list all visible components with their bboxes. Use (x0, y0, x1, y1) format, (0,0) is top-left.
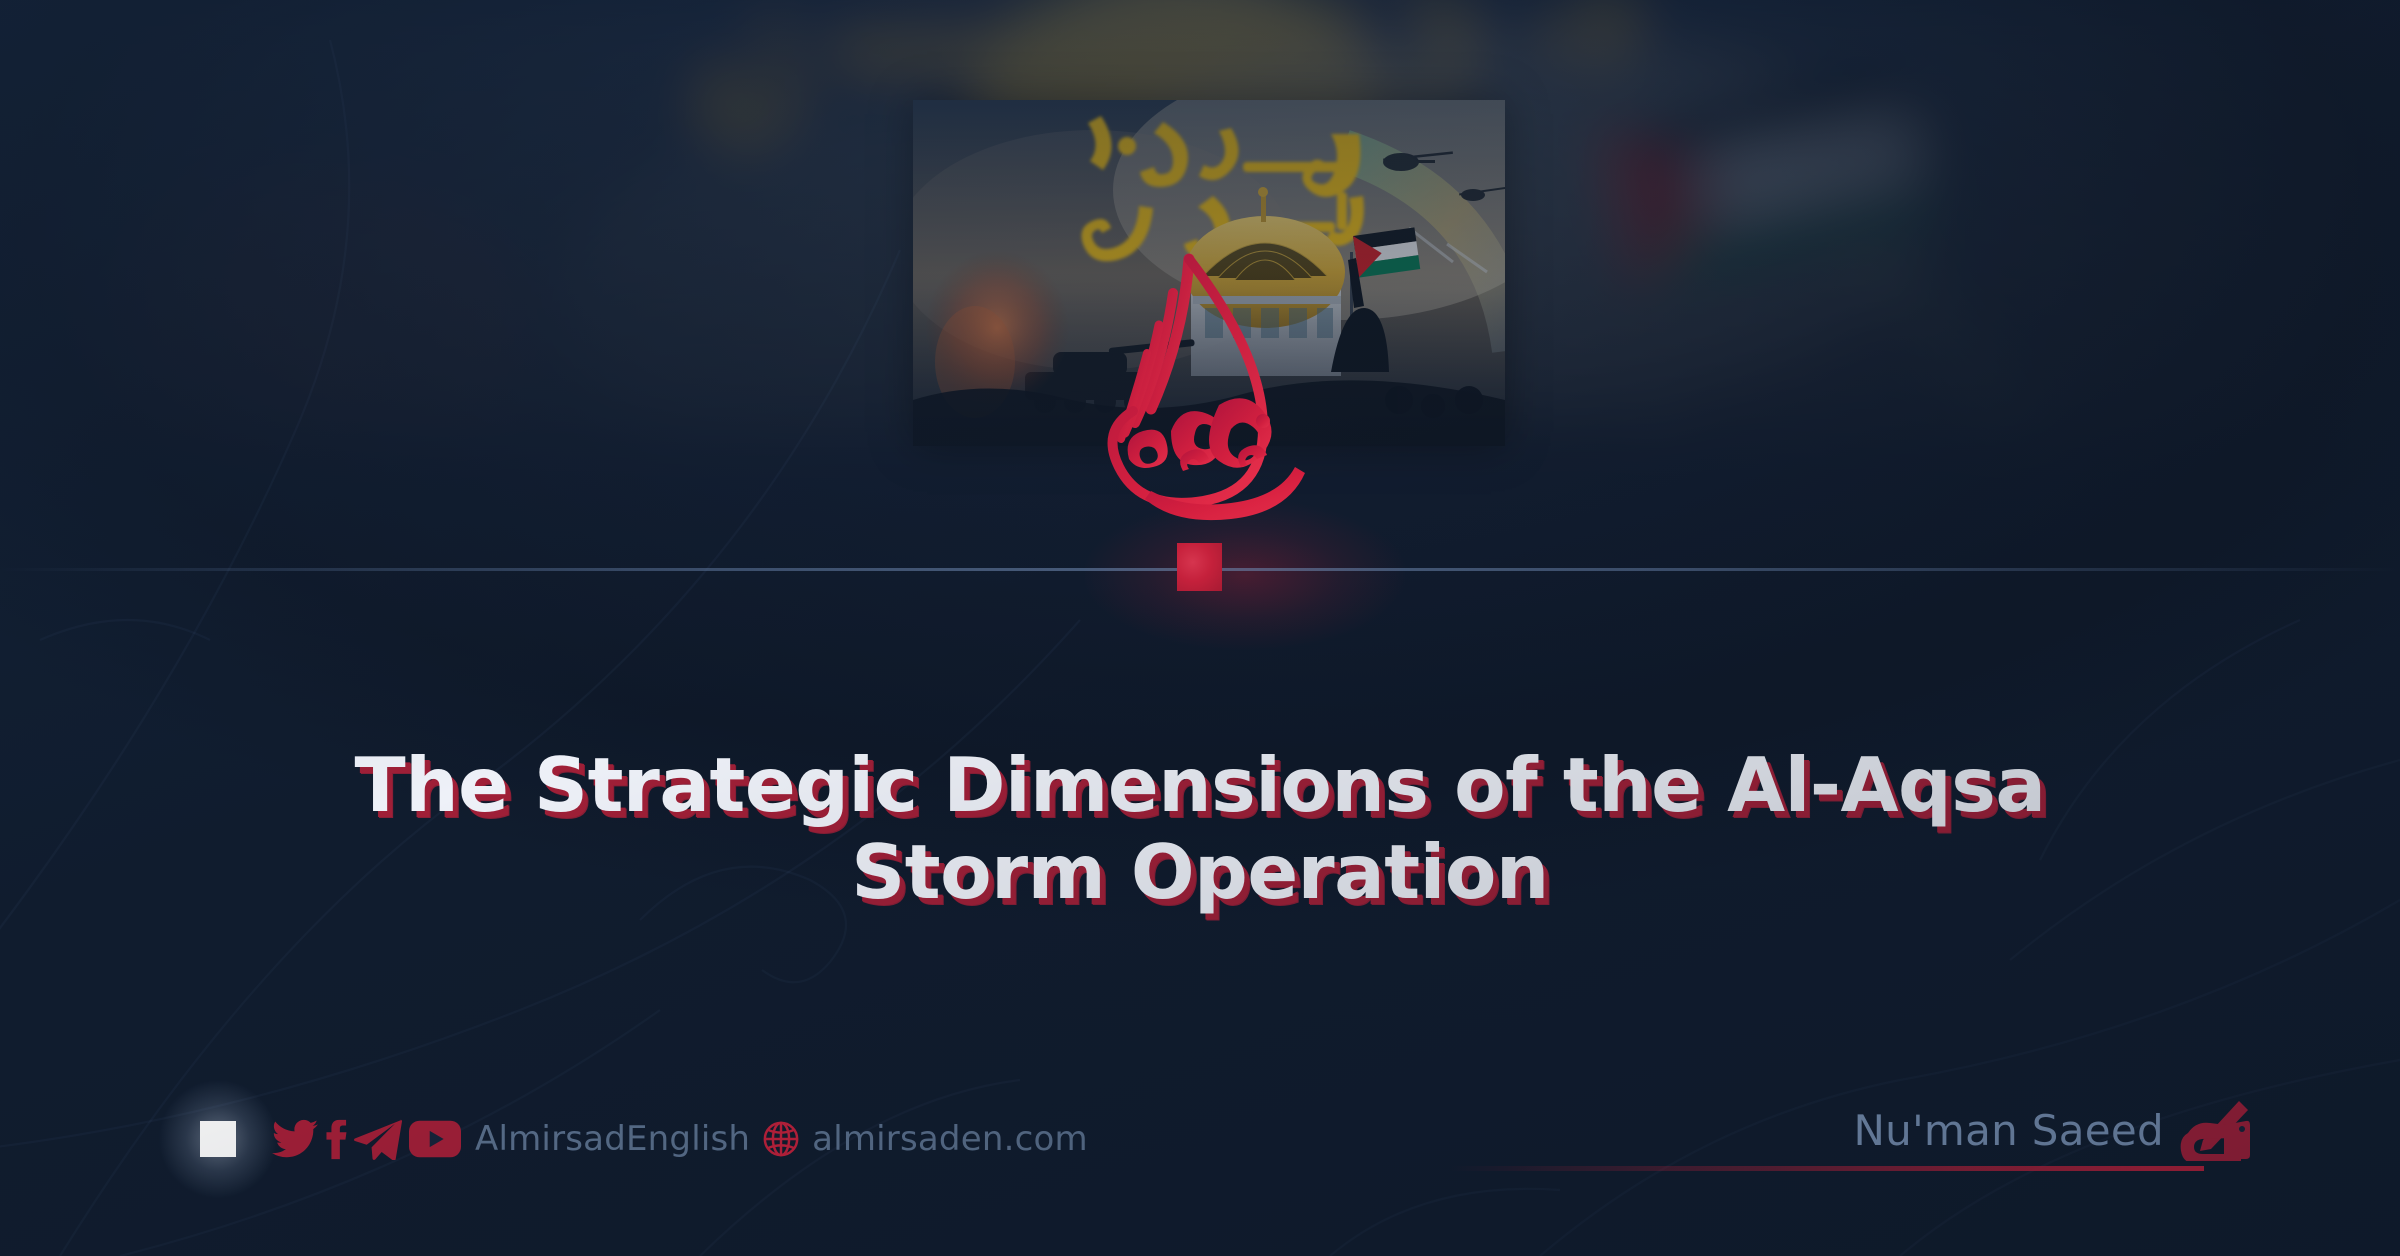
youtube-icon[interactable] (409, 1120, 461, 1158)
twitter-icon[interactable] (272, 1119, 318, 1159)
footer-social-bar: AlmirsadEnglish almirsaden.com (192, 1113, 1088, 1165)
title-line-2: Storm Operation (300, 829, 2100, 916)
social-handle[interactable]: AlmirsadEnglish (475, 1119, 750, 1159)
slide-root: The Strategic Dimensions of the Al-Aqsa … (0, 0, 2400, 1256)
facebook-icon[interactable] (325, 1117, 347, 1161)
title-line-1: The Strategic Dimensions of the Al-Aqsa (300, 742, 2100, 829)
website-url[interactable]: almirsaden.com (812, 1119, 1088, 1159)
social-icon-group (272, 1117, 461, 1161)
writing-hand-icon (2178, 1099, 2250, 1161)
author-row: Nu'man Saeed (1853, 1098, 2250, 1162)
red-square-marker (1177, 543, 1222, 591)
telegram-icon[interactable] (354, 1118, 402, 1160)
almirsad-logo (1085, 245, 1335, 535)
globe-icon (762, 1120, 800, 1158)
white-square-marker (192, 1113, 244, 1165)
white-square-shape (200, 1121, 236, 1157)
author-block: Nu'man Saeed (1450, 1098, 2250, 1194)
author-name: Nu'man Saeed (1853, 1106, 2164, 1155)
page-title: The Strategic Dimensions of the Al-Aqsa … (0, 742, 2400, 916)
author-underline (1450, 1166, 2204, 1171)
